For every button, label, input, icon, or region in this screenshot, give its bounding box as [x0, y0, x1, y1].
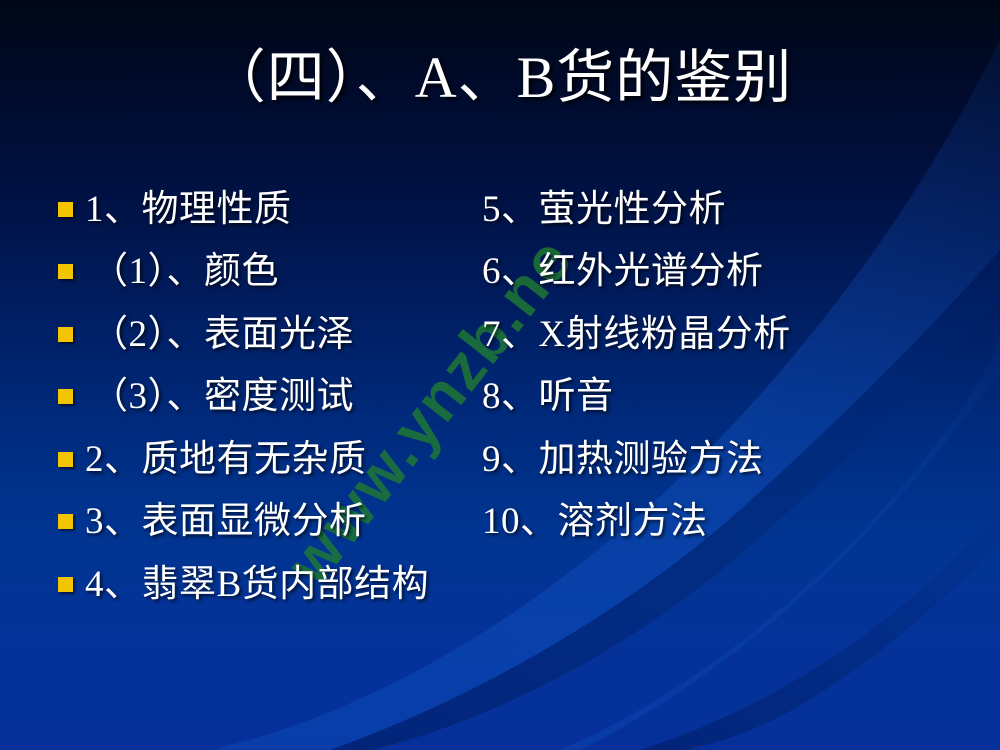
- list-item-label: 5、萤光性分析: [480, 191, 726, 228]
- right-column: 5、萤光性分析 6、红外光谱分析 7、X射线粉晶分析 8、听音 9、加热测验方法…: [480, 178, 910, 553]
- bullet-square-icon: [58, 514, 73, 529]
- list-item-label: 8、听音: [480, 378, 614, 415]
- list-item-label: 9、加热测验方法: [480, 441, 764, 478]
- bullet-square-icon: [58, 202, 73, 217]
- list-item: 4、翡翠B货内部结构: [58, 553, 478, 616]
- list-item-label: 4、翡翠B货内部结构: [85, 566, 429, 603]
- list-item: 5、萤光性分析: [480, 178, 910, 241]
- list-item: 7、X射线粉晶分析: [480, 303, 910, 366]
- bullet-square-icon: [58, 577, 73, 592]
- list-item: （2）、表面光泽: [58, 303, 478, 366]
- list-item: 9、加热测验方法: [480, 428, 910, 491]
- list-item: （3）、密度测试: [58, 366, 478, 429]
- list-item: （1）、颜色: [58, 241, 478, 304]
- list-item-label: 2、质地有无杂质: [85, 441, 367, 478]
- bullet-square-icon: [58, 389, 73, 404]
- bullet-square-icon: [58, 452, 73, 467]
- presentation-slide: www.ynzb.ne （四）、A、B货的鉴别 1、物理性质 （1）、颜色 （2…: [0, 0, 1000, 750]
- slide-title: （四）、A、B货的鉴别: [0, 48, 1000, 109]
- bullet-square-icon: [58, 327, 73, 342]
- list-item-label: 10、溶剂方法: [480, 503, 708, 540]
- list-item-label: 1、物理性质: [85, 191, 292, 228]
- list-item-label: 6、红外光谱分析: [480, 253, 764, 290]
- list-item-label: 3、表面显微分析: [85, 503, 367, 540]
- slide-body: 1、物理性质 （1）、颜色 （2）、表面光泽 （3）、密度测试 2、质地有无杂质…: [0, 178, 1000, 638]
- list-item: 3、表面显微分析: [58, 491, 478, 554]
- list-item-label: 7、X射线粉晶分析: [480, 316, 791, 353]
- list-item: 8、听音: [480, 366, 910, 429]
- list-item: 1、物理性质: [58, 178, 478, 241]
- list-item: 6、红外光谱分析: [480, 241, 910, 304]
- list-item-label: （3）、密度测试: [85, 378, 354, 415]
- bullet-square-icon: [58, 264, 73, 279]
- left-column: 1、物理性质 （1）、颜色 （2）、表面光泽 （3）、密度测试 2、质地有无杂质…: [58, 178, 478, 616]
- list-item-label: （1）、颜色: [85, 253, 279, 290]
- list-item: 2、质地有无杂质: [58, 428, 478, 491]
- list-item-label: （2）、表面光泽: [85, 316, 354, 353]
- list-item: 10、溶剂方法: [480, 491, 910, 554]
